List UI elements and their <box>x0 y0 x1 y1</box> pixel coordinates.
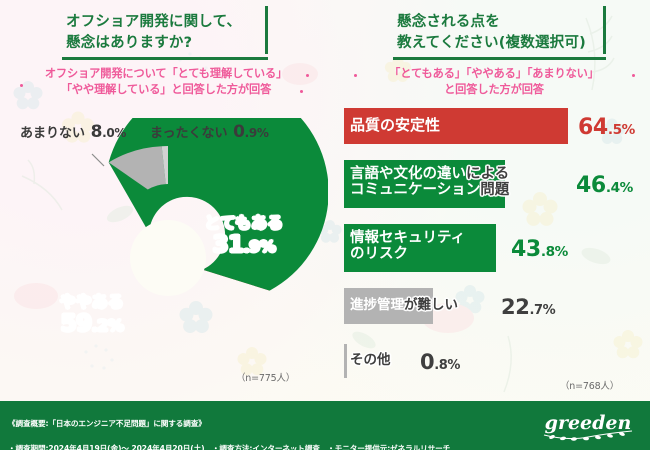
right-header-block: 懸念される点を 教えてください(複数選択可) <box>393 10 606 60</box>
decor-dot-icon <box>354 74 357 77</box>
bar-row-communication[interactable]: 言語や文化の違いによる コミュニケーション問題 46.4% <box>344 160 644 212</box>
donut-inner-label-totemo-aru-name: とてもある <box>186 211 302 233</box>
donut-label-mattaku-nai: まったくない 0.9% <box>150 122 269 142</box>
bar-label-shinchoku: 進捗管理が難しい <box>350 298 458 313</box>
right-title-underline <box>393 57 606 60</box>
bar-label-security-inside-l2: のリスク <box>350 246 408 262</box>
bar-label-communication-inside-l1: 言語や文化の違い <box>350 166 466 182</box>
bar-label-communication-outside-l1: による <box>466 166 509 182</box>
bar-fill-sonota <box>344 344 347 378</box>
footer-bar: 《調査概要:「日本のエンジニア不足問題」に関する調査》 ・調査期間:2024年4… <box>0 401 650 450</box>
bar-value-hinshitsu: 64.5% <box>578 115 635 140</box>
bar-row-security[interactable]: 情報セキュリティ のリスク 43.8% <box>344 224 644 276</box>
donut-inner-label-yaya-aru: ややある 59.2% <box>34 290 150 336</box>
decor-dot-icon <box>306 74 309 77</box>
right-subtitle-block: 「とてもある」「ややある」「あまりない」 と回答した方が回答 <box>344 66 644 97</box>
bar-label-security-inside-l1: 情報セキュリティ <box>350 230 465 246</box>
decor-dot-icon <box>300 90 303 93</box>
right-panel-subtitle: 「とてもある」「ややある」「あまりない」 と回答した方が回答 <box>344 66 644 97</box>
bar-label-communication: 言語や文化の違いによる コミュニケーション問題 <box>350 166 509 199</box>
bar-row-sonota[interactable]: その他 0.8% <box>344 344 644 380</box>
left-title-vertical-bar <box>265 6 269 54</box>
decor-dot-icon <box>20 84 23 87</box>
footer-line-2: ・調査期間:2024年4月19日(金)～ 2024年4月20日(土) ・調査方法… <box>8 443 450 450</box>
decor-dot-icon <box>632 74 635 77</box>
left-panel-title: オフショア開発に関して、 懸念はありますか? <box>62 10 268 57</box>
left-header-block: オフショア開発に関して、 懸念はありますか? <box>62 10 268 60</box>
donut-inner-label-yaya-aru-value: 59.2% <box>34 312 150 336</box>
bar-label-communication-inside-l2: コミュニケーション <box>350 182 480 198</box>
donut-label-amari-nai: あまりない 8.0% <box>20 122 126 142</box>
bar-value-shinchoku: 22.7% <box>501 295 555 319</box>
bar-label-security: 情報セキュリティ のリスク <box>350 230 465 263</box>
bar-chart-sample-size: （n=768人） <box>560 378 619 392</box>
donut-sample-size: （n=775人） <box>236 370 295 384</box>
donut-inner-label-totemo-aru-value: 31.9% <box>186 233 302 257</box>
bar-row-shinchoku[interactable]: 進捗管理が難しい 22.7% <box>344 288 644 328</box>
right-panel-title: 懸念される点を 教えてください(複数選択可) <box>393 10 606 57</box>
left-subtitle-block: オフショア開発について「とても理解している」 「やや理解している」と回答した方が… <box>14 66 318 97</box>
donut-label-amari-nai-name: あまりない <box>20 126 85 141</box>
bar-label-sonota-outside: その他 <box>350 352 391 368</box>
bar-label-shinchoku-inside: 進捗管理 <box>350 297 404 313</box>
bar-value-sonota: 0.8% <box>420 350 460 374</box>
left-title-underline <box>62 57 268 60</box>
bar-value-security: 43.8% <box>511 237 568 262</box>
bar-row-hinshitsu[interactable]: 品質の安定性 64.5% <box>344 108 644 148</box>
bar-label-sonota: その他 <box>350 353 391 368</box>
bar-label-hinshitsu-inside: 品質の安定性 <box>350 116 440 134</box>
bar-label-hinshitsu: 品質の安定性 <box>350 117 440 134</box>
donut-label-amari-nai-value: 8.0% <box>91 122 127 142</box>
donut-label-mattaku-nai-name: まったくない <box>150 126 227 141</box>
greeden-logo-text: greeden <box>545 412 632 434</box>
bar-label-communication-outside-l2: 問題 <box>480 182 509 198</box>
donut-chart: あまりない 8.0% まったくない 0.9% とてもある 31.9% ややある … <box>8 118 328 380</box>
infographic-root: オフショア開発に関して、 懸念はありますか? オフショア開発について「とても理解… <box>0 0 650 450</box>
footer-text-block: 《調査概要:「日本のエンジニア不足問題」に関する調査》 ・調査期間:2024年4… <box>8 406 450 450</box>
footer-line-1: 《調査概要:「日本のエンジニア不足問題」に関する調査》 <box>8 418 450 430</box>
bar-chart: 品質の安定性 64.5% 言語や文化の違いによる コミュニケーション問題 46.… <box>344 104 644 382</box>
bar-value-communication: 46.4% <box>576 173 633 198</box>
greeden-logo-icon[interactable]: greeden <box>536 410 640 442</box>
donut-inner-label-totemo-aru: とてもある 31.9% <box>186 211 302 257</box>
bar-label-shinchoku-outside: が難しい <box>404 297 458 313</box>
right-title-vertical-bar <box>603 6 607 54</box>
donut-label-mattaku-nai-value: 0.9% <box>233 122 269 142</box>
left-panel-subtitle: オフショア開発について「とても理解している」 「やや理解している」と回答した方が… <box>14 66 318 97</box>
donut-inner-label-yaya-aru-name: ややある <box>34 290 150 312</box>
